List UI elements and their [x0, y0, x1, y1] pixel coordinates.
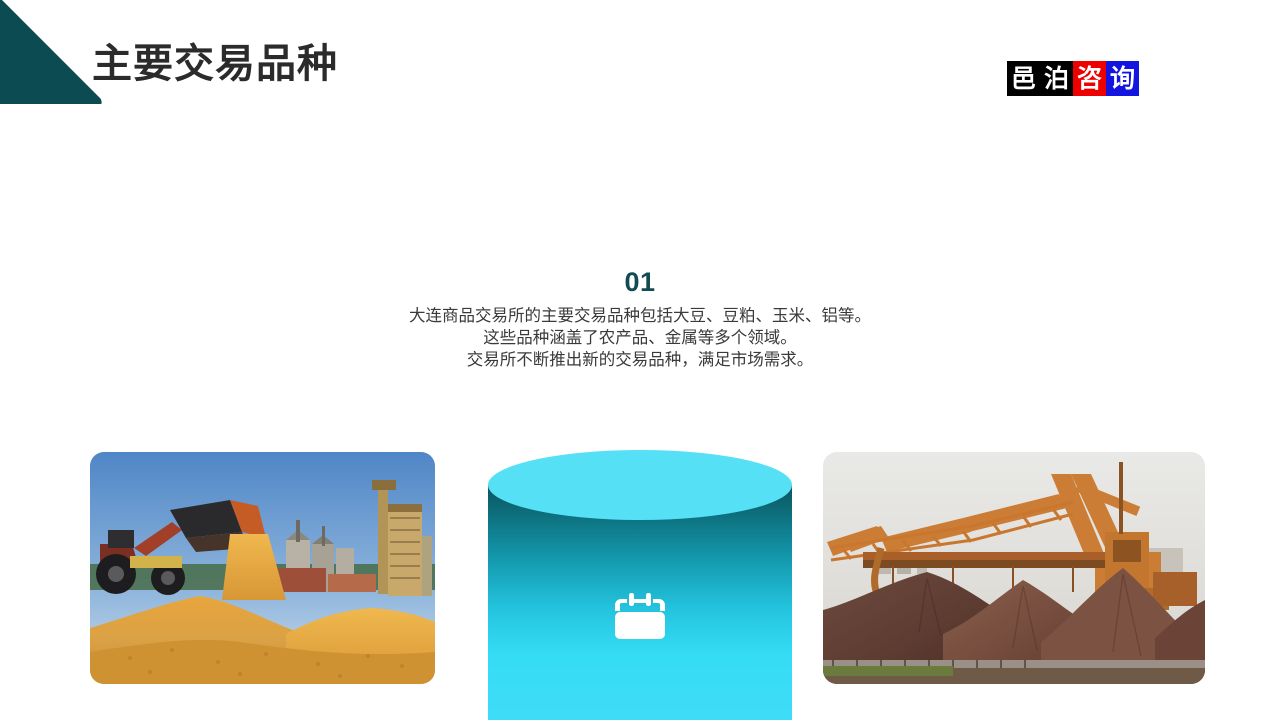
page-title: 主要交易品种 [92, 44, 338, 84]
corner-triangle-shape [0, 0, 104, 104]
cylinder-top-ellipse [488, 450, 792, 520]
corner-decoration [0, 0, 106, 104]
step-number: 01 [340, 268, 940, 298]
logo-char-1: 邑 [1007, 61, 1040, 96]
brand-logo: 邑 泊 咨 询 [1007, 61, 1139, 96]
calendar-icon [611, 593, 669, 641]
right-photo-iron-ore [823, 452, 1205, 684]
cylinder-graphic [488, 450, 792, 720]
logo-char-2: 泊 [1040, 61, 1073, 96]
left-photo-grain-harvest [90, 452, 435, 684]
logo-char-3: 咨 [1073, 61, 1106, 96]
grain-harvest-illustration [90, 452, 435, 684]
body-paragraph: 大连商品交易所的主要交易品种包括大豆、豆粕、玉米、铝等。 这些品种涵盖了农产品、… [340, 305, 940, 371]
content-block: 01 大连商品交易所的主要交易品种包括大豆、豆粕、玉米、铝等。 这些品种涵盖了农… [340, 268, 940, 371]
calendar-icon-svg [611, 593, 669, 641]
paragraph-line-2: 这些品种涵盖了农产品、金属等多个领域。 [340, 327, 940, 349]
iron-ore-illustration [823, 452, 1205, 684]
paragraph-line-1: 大连商品交易所的主要交易品种包括大豆、豆粕、玉米、铝等。 [340, 305, 940, 327]
logo-char-4: 询 [1106, 61, 1139, 96]
paragraph-line-3: 交易所不断推出新的交易品种，满足市场需求。 [340, 349, 940, 371]
